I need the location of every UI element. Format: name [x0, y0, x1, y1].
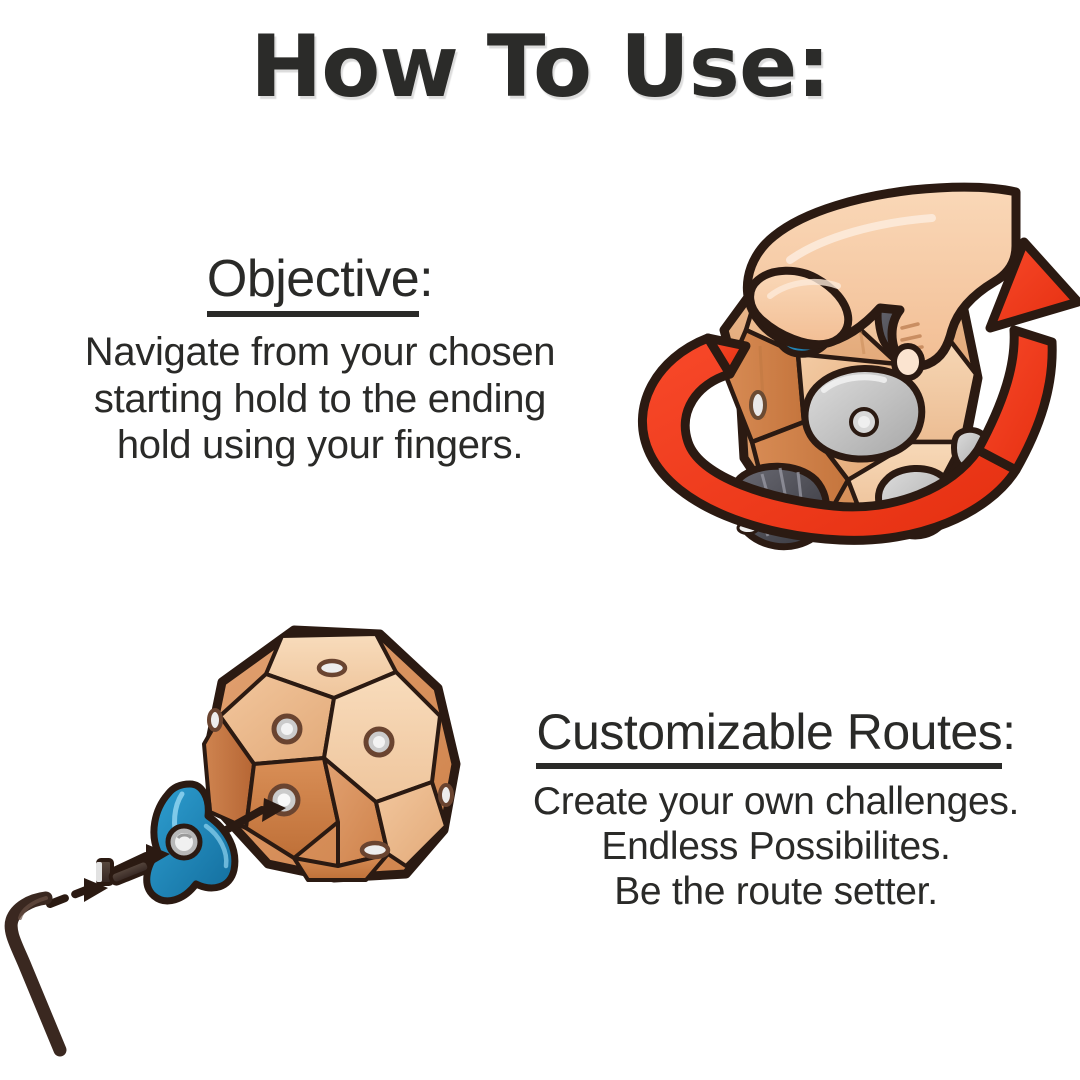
objective-body: Navigate from your chosen starting hold … [10, 329, 630, 468]
hold-assembly-exploded-illustration [0, 612, 494, 1080]
customizable-routes-section: Customizable Routes: Create your own cha… [476, 706, 1076, 915]
page-title: How To Use: [0, 24, 1080, 110]
routes-body-line-1: Create your own challenges. [476, 779, 1076, 824]
allen-key-icon [11, 898, 60, 1050]
objective-body-line-3: hold using your fingers. [10, 422, 630, 468]
gray-climbing-hold-icon [805, 368, 922, 459]
customizable-routes-body: Create your own challenges. Endless Poss… [476, 779, 1076, 915]
routes-body-line-3: Be the route setter. [476, 869, 1076, 914]
objective-body-line-1: Navigate from your chosen [10, 329, 630, 375]
customizable-routes-heading: Customizable Routes: [536, 706, 1015, 765]
dodecahedron-climbing-ball-icon [204, 630, 456, 880]
objective-heading-colon: : [419, 250, 433, 308]
mounting-hole-icon [209, 710, 221, 730]
routes-body-line-2: Endless Possibilites. [476, 824, 1076, 869]
customizable-routes-heading-label: Customizable Routes [536, 704, 1002, 769]
mounting-hole-icon [366, 729, 392, 755]
mounting-hole-icon [751, 392, 765, 418]
objective-heading-label: Objective [207, 250, 419, 317]
hold-bolt-hole-icon [168, 826, 200, 858]
objective-section: Objective: Navigate from your chosen sta… [10, 252, 630, 468]
mounting-hole-icon [440, 785, 452, 805]
mounting-hole-icon [274, 716, 300, 742]
customizable-routes-heading-colon: : [1002, 704, 1015, 760]
objective-heading: Objective: [207, 252, 433, 313]
mounting-hole-icon [319, 661, 345, 675]
hand-rotating-climbing-ball-illustration [612, 150, 1080, 600]
mounting-hole-icon [362, 843, 388, 857]
objective-body-line-2: starting hold to the ending [10, 376, 630, 422]
how-to-use-infographic: How To Use: Objective: Navigate from you… [0, 0, 1080, 1080]
